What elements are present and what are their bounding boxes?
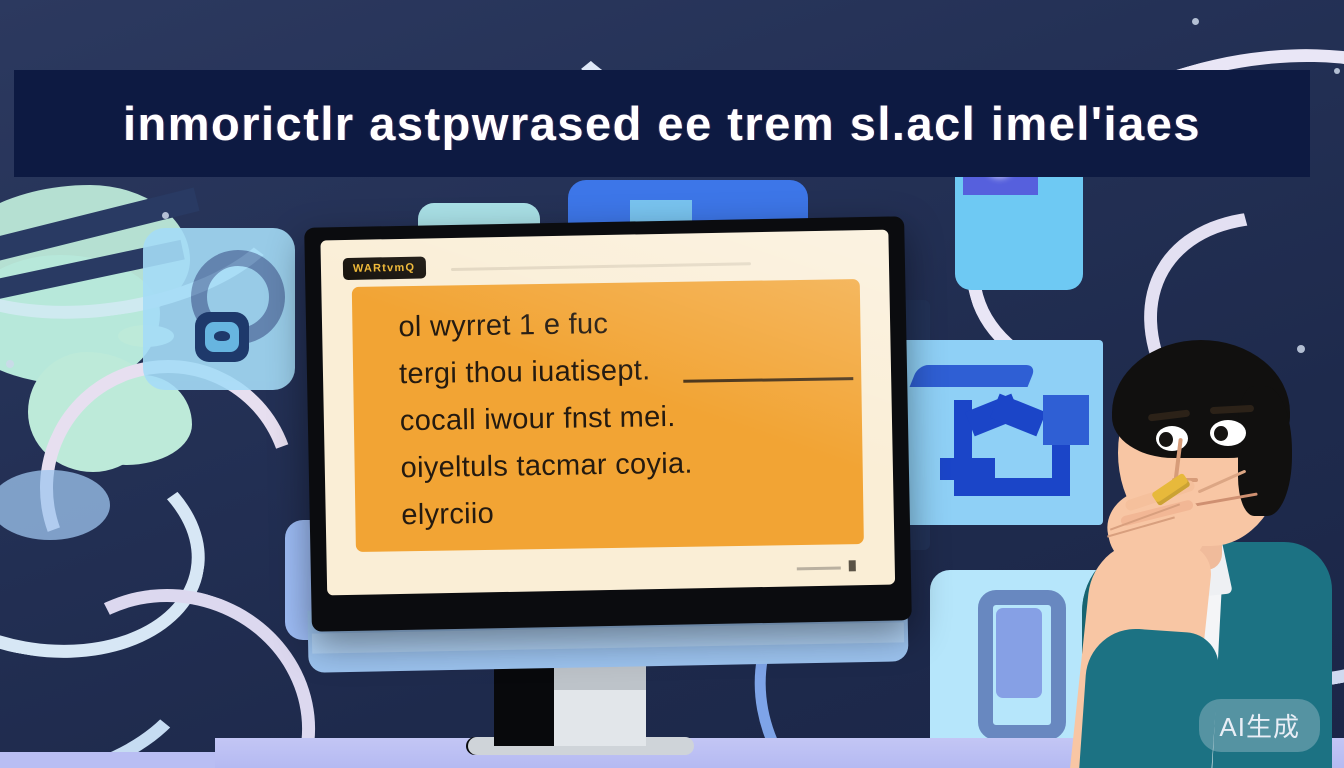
stand-neck-shadow [494,660,554,746]
warning-badge: WARtvmQ [343,256,427,280]
monitor-screen[interactable]: WARtvmQ ol wyrret 1 e fuc tergi thou iua… [320,230,895,596]
mint-petal-shape-2 [82,375,192,465]
pale-blob [0,470,110,540]
eye-left [1156,426,1188,451]
mint-dash-shape [118,325,174,347]
ribbon-swirl-left-d [0,522,218,768]
lock-inner-icon [205,322,239,352]
ribbon-swirl-left-b [0,318,338,658]
warning-line: elyrciio [401,485,842,539]
title-text: inmorictlr astpwrased ee trem sl.acl ime… [123,96,1201,151]
footer-box-icon [849,560,856,571]
sleeve [1079,626,1221,768]
monitor-bezel: WARtvmQ ol wyrret 1 e fuc tergi thou iua… [304,216,912,631]
star-dot [162,212,169,219]
mail-icon-stroke-3 [965,394,1021,437]
warning-line: ol wyrret 1 e fuc [398,297,839,351]
screen-footer-marks [797,560,865,575]
mail-icon-stroke-1 [910,365,1037,387]
ribbon-swirl-left-c [0,403,223,682]
image-card [955,165,1083,290]
star-dot [1334,68,1340,74]
mint-petal-shape [28,352,158,472]
mail-icon-stroke-5 [940,458,995,480]
lock-icon [191,250,285,344]
mint-swirl-shape [0,185,190,335]
lock-card [143,228,295,390]
star-dot [1192,18,1199,25]
illustration-scene: WARtvmQ ol wyrret 1 e fuc tergi thou iua… [0,0,1344,768]
warning-line: tergi thou iuatisept. [399,344,840,398]
ai-watermark: AI生成 [1199,699,1320,752]
swirl-cut-band [0,188,199,267]
dialog-top-rule [451,262,751,271]
mint-swirl-shape-2 [0,255,160,385]
lock-body-icon [195,312,249,362]
pupil-right [1214,426,1228,441]
pupil-left [1159,432,1173,447]
footer-bar-icon [797,567,841,571]
star-dot [6,360,14,368]
title-banner: inmorictlr astpwrased ee trem sl.acl ime… [14,70,1310,177]
ribbon-swirl-bottom-left [0,552,350,768]
swirl-cut-band-2 [0,240,185,304]
warning-dialog-panel: ol wyrret 1 e fuc tergi thou iuatisept. … [352,279,864,552]
key-icon [214,331,230,341]
warning-line: oiyeltuls tacmar coyia. [400,438,841,492]
desk-surface-left [0,752,215,768]
eye-right [1210,420,1246,446]
warning-line: cocall iwour fnst mei. [400,391,841,445]
warning-text-block: ol wyrret 1 e fuc tergi thou iuatisept. … [398,297,842,539]
